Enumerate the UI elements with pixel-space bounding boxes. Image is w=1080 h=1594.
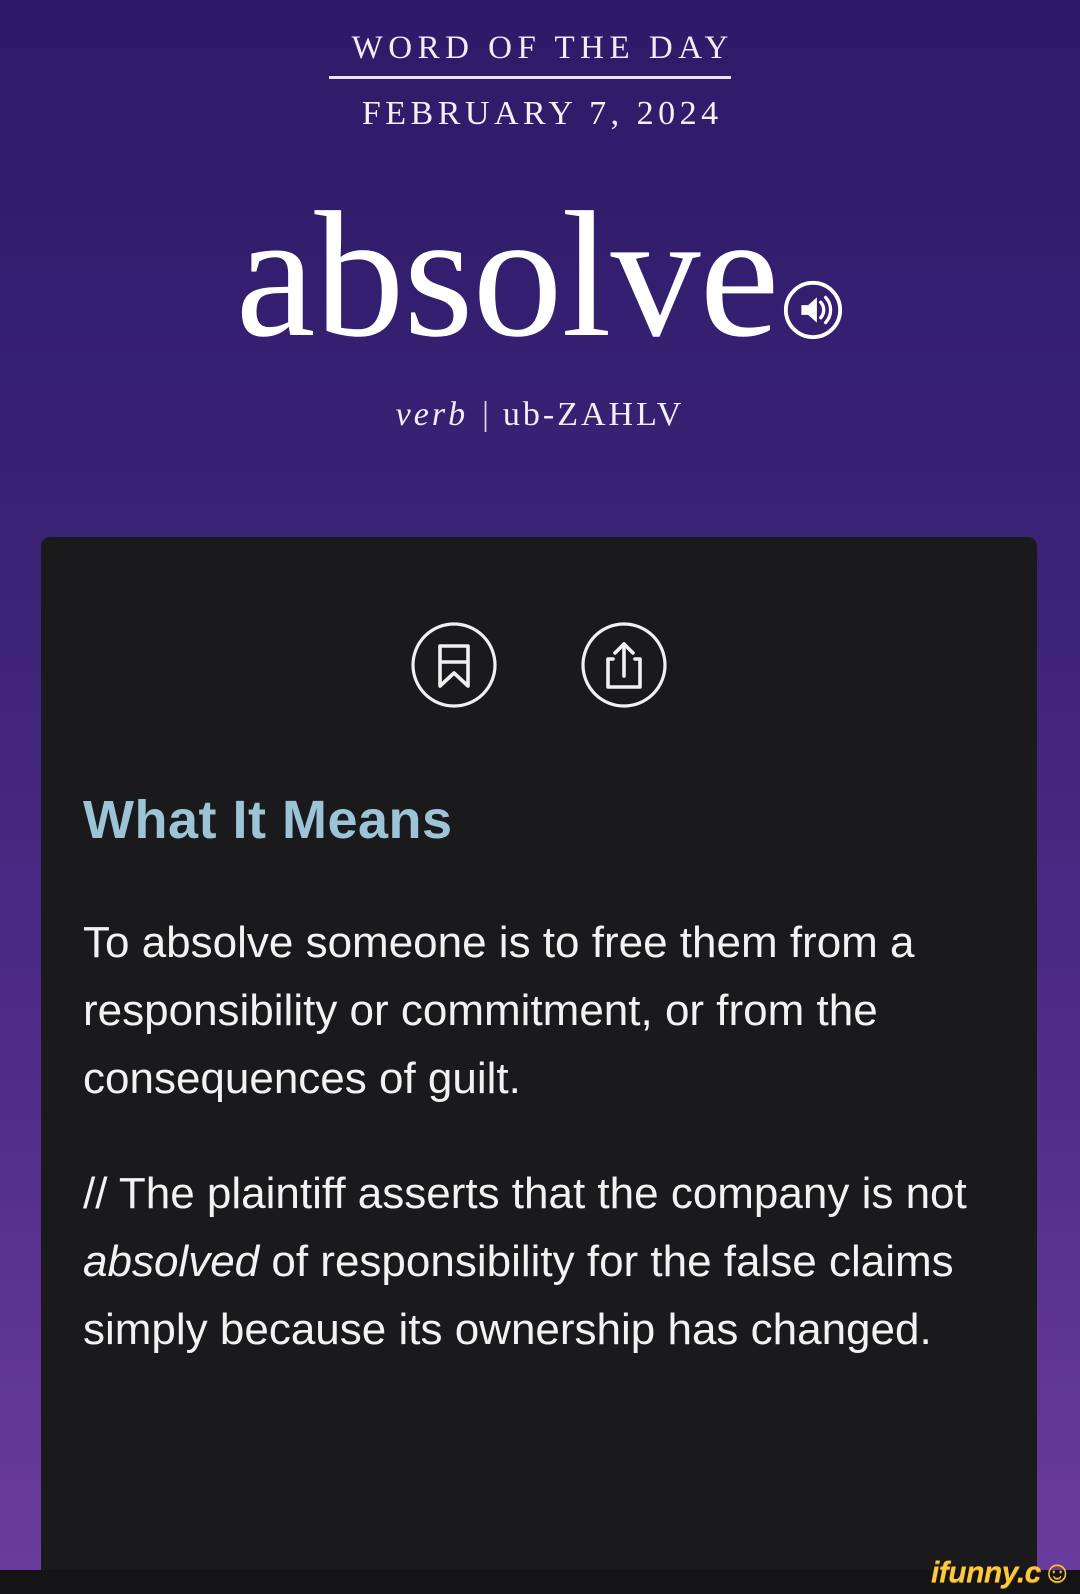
action-button-row [41,621,1037,709]
headword-row: absolve [0,175,1080,365]
pronunciation-row: verb|ub-ZAHLV [0,396,1080,434]
part-of-speech: verb [396,396,468,433]
example-highlight: absolved [83,1237,259,1286]
pronunciation: ub-ZAHLV [503,396,684,433]
speaker-icon[interactable] [782,279,844,341]
title-divider [329,76,731,79]
definition-text: To absolve someone is to free them from … [83,909,973,1113]
pronunciation-separator: | [468,396,503,434]
example-sentence: // The plaintiff asserts that the compan… [83,1160,973,1364]
share-button[interactable] [580,621,668,709]
smiley-icon: ☺ [1042,1556,1072,1590]
date-label: FEBRUARY 7, 2024 [0,95,1080,133]
hero-section: WORD OF THE DAY FEBRUARY 7, 2024 absolve… [0,0,1080,537]
watermark-text: ifunny.c [931,1556,1041,1590]
ifunny-watermark: ifunny.c☺ [931,1556,1072,1590]
section-heading: What It Means [83,789,453,851]
word-of-the-day-card: WORD OF THE DAY FEBRUARY 7, 2024 absolve… [0,0,1080,1594]
bookmark-button[interactable] [410,621,498,709]
bottom-band [0,1570,1080,1594]
headword: absolve [236,185,779,365]
example-prefix: // The plaintiff asserts that the compan… [83,1169,967,1218]
page-title: WORD OF THE DAY [0,30,1080,67]
definition-card: What It Means To absolve someone is to f… [41,537,1037,1594]
